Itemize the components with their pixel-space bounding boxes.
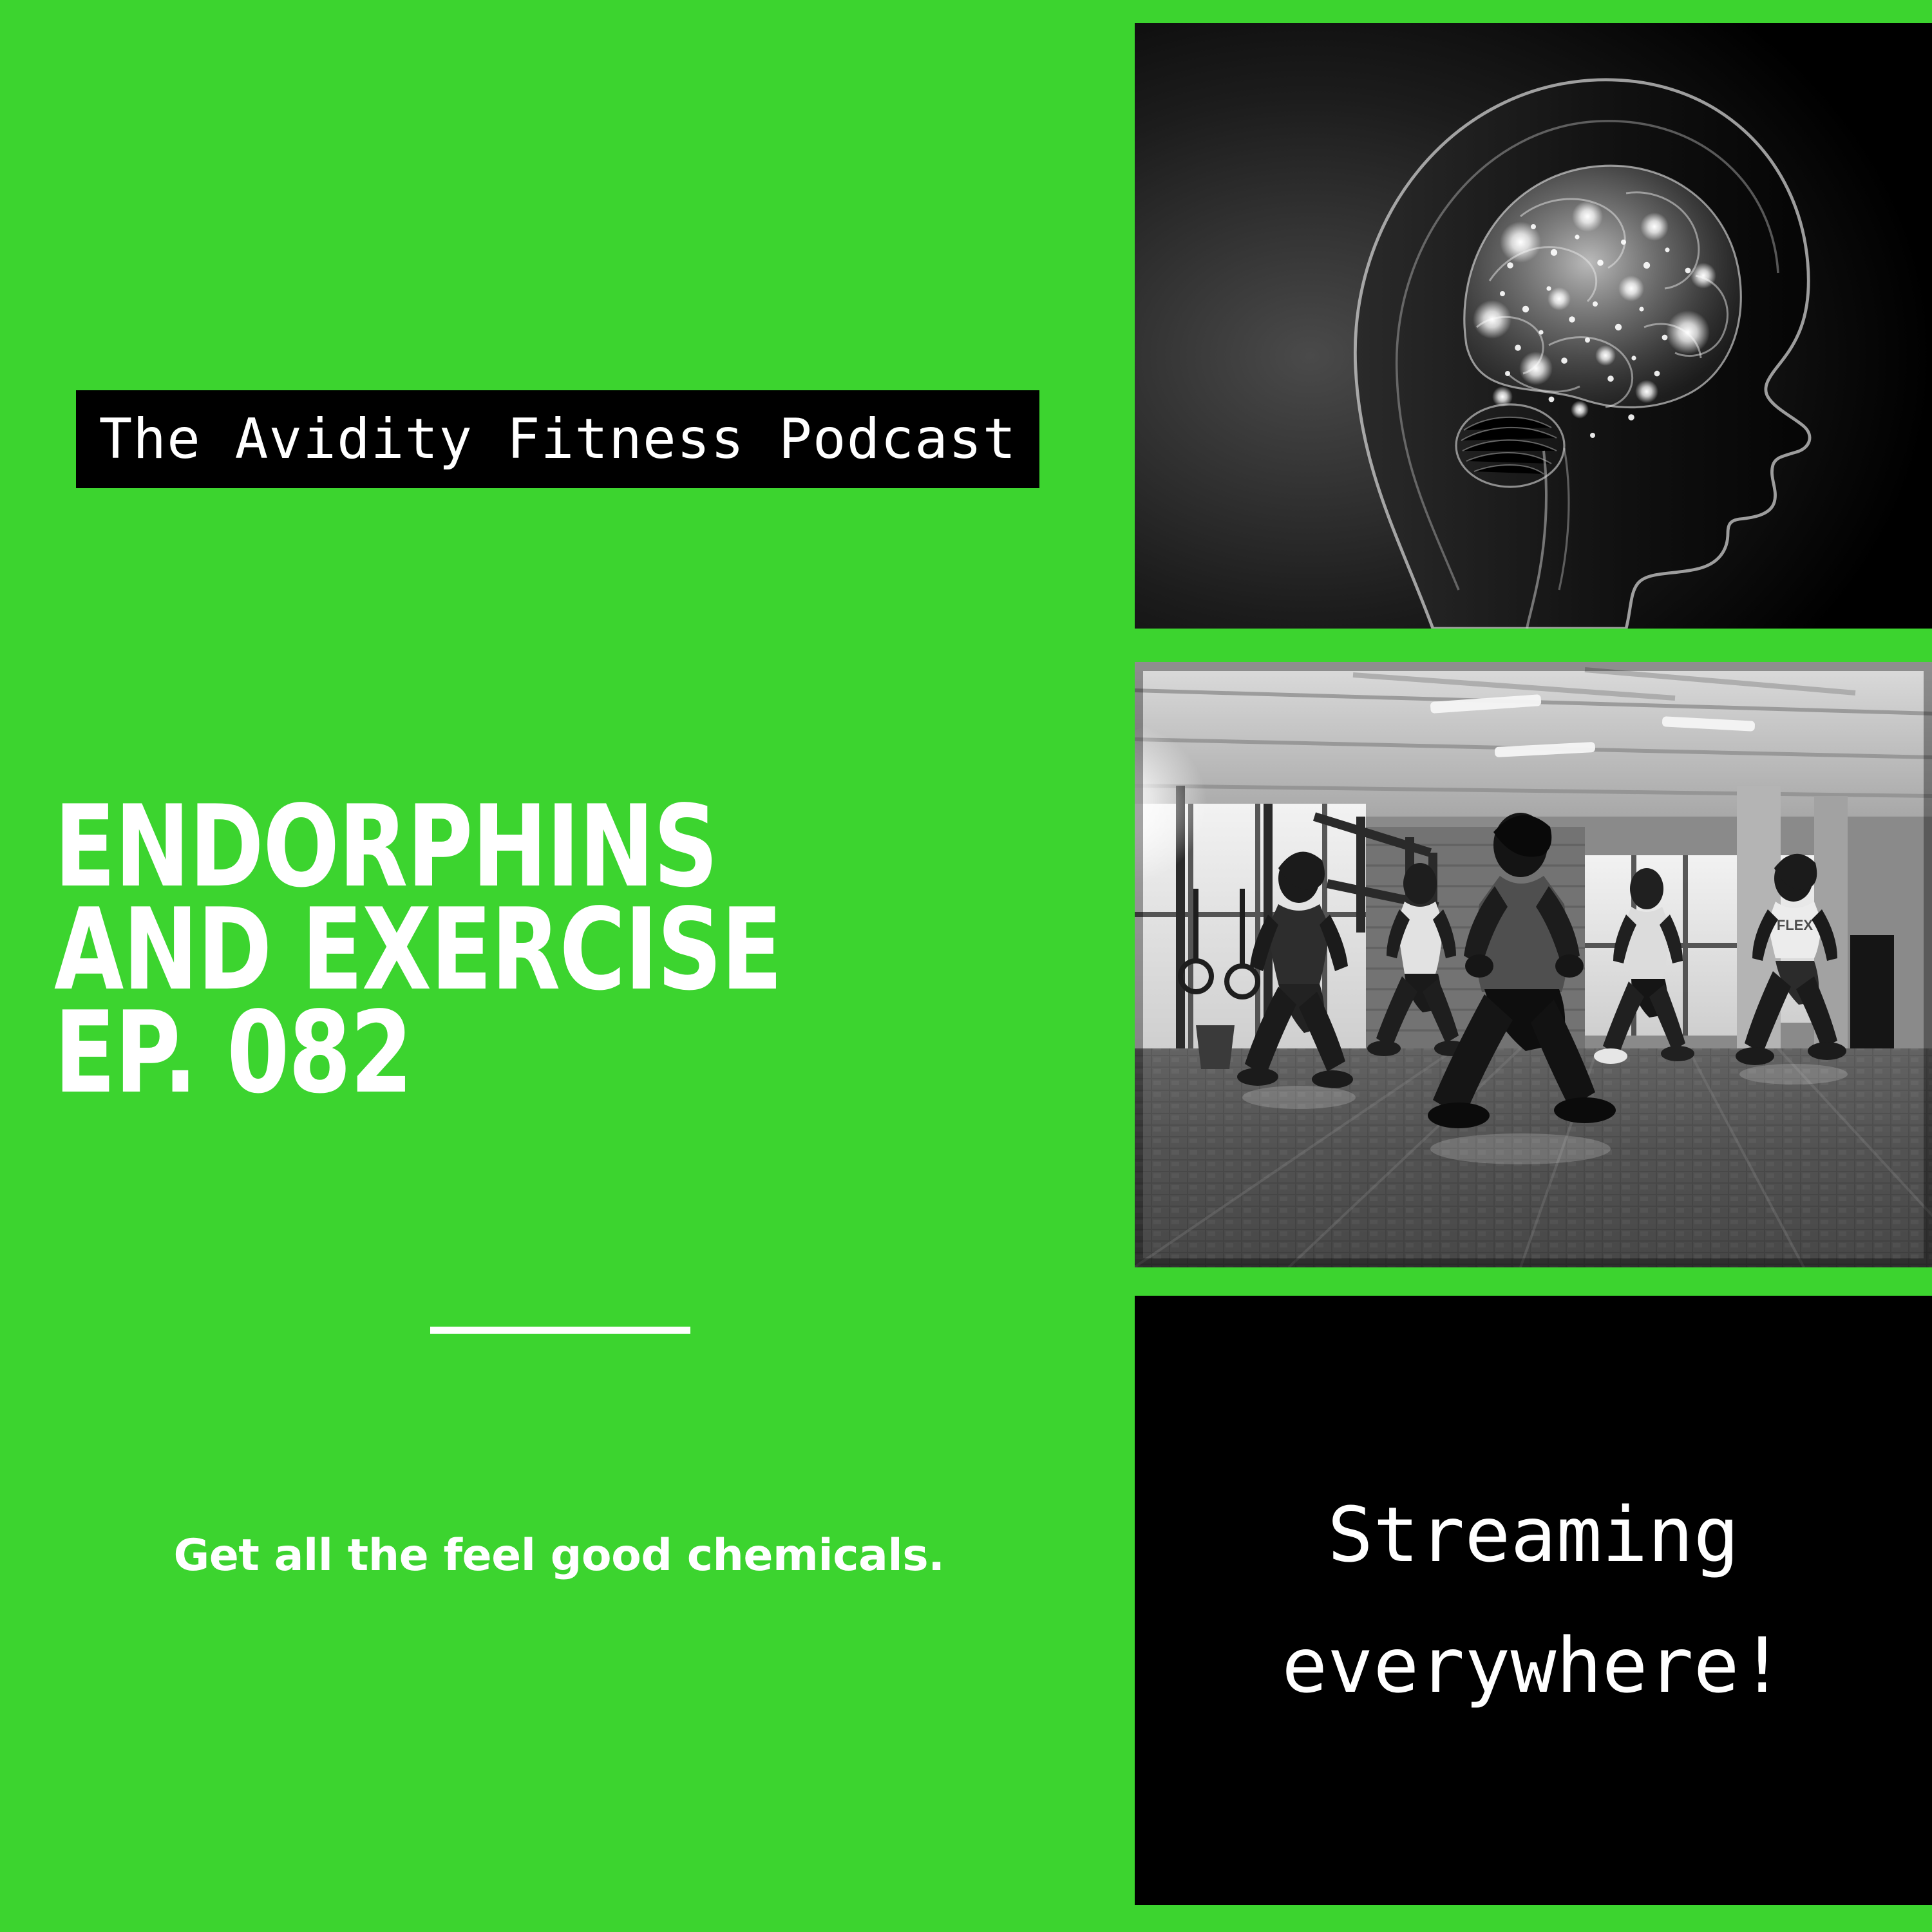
podcast-cover: The Avidity Fitness Podcast ENDORPHINS A… [0,0,1932,1932]
gym-image-panel: FLEX [1135,662,1932,1267]
episode-headline: ENDORPHINS AND EXERCISE EP. 082 [54,796,1059,1105]
headline-line-3: EP. 082 [54,1002,858,1105]
headline-line-1: ENDORPHINS [54,796,858,899]
brain-xray-illustration [1135,23,1932,629]
headline-line-2: AND EXERCISE [54,899,858,1002]
divider-rule [430,1327,690,1334]
svg-text:FLEX: FLEX [1777,917,1814,933]
streaming-text: Streaming everywhere! [1282,1470,1785,1731]
group-fitness-class-photo: FLEX [1135,662,1932,1267]
show-title: The Avidity Fitness Podcast [99,412,1017,467]
episode-tagline: Get all the feel good chemicals. [76,1530,1042,1582]
streaming-panel: Streaming everywhere! [1135,1296,1932,1905]
show-title-bar: The Avidity Fitness Podcast [76,390,1039,488]
brain-image-panel [1135,23,1932,629]
